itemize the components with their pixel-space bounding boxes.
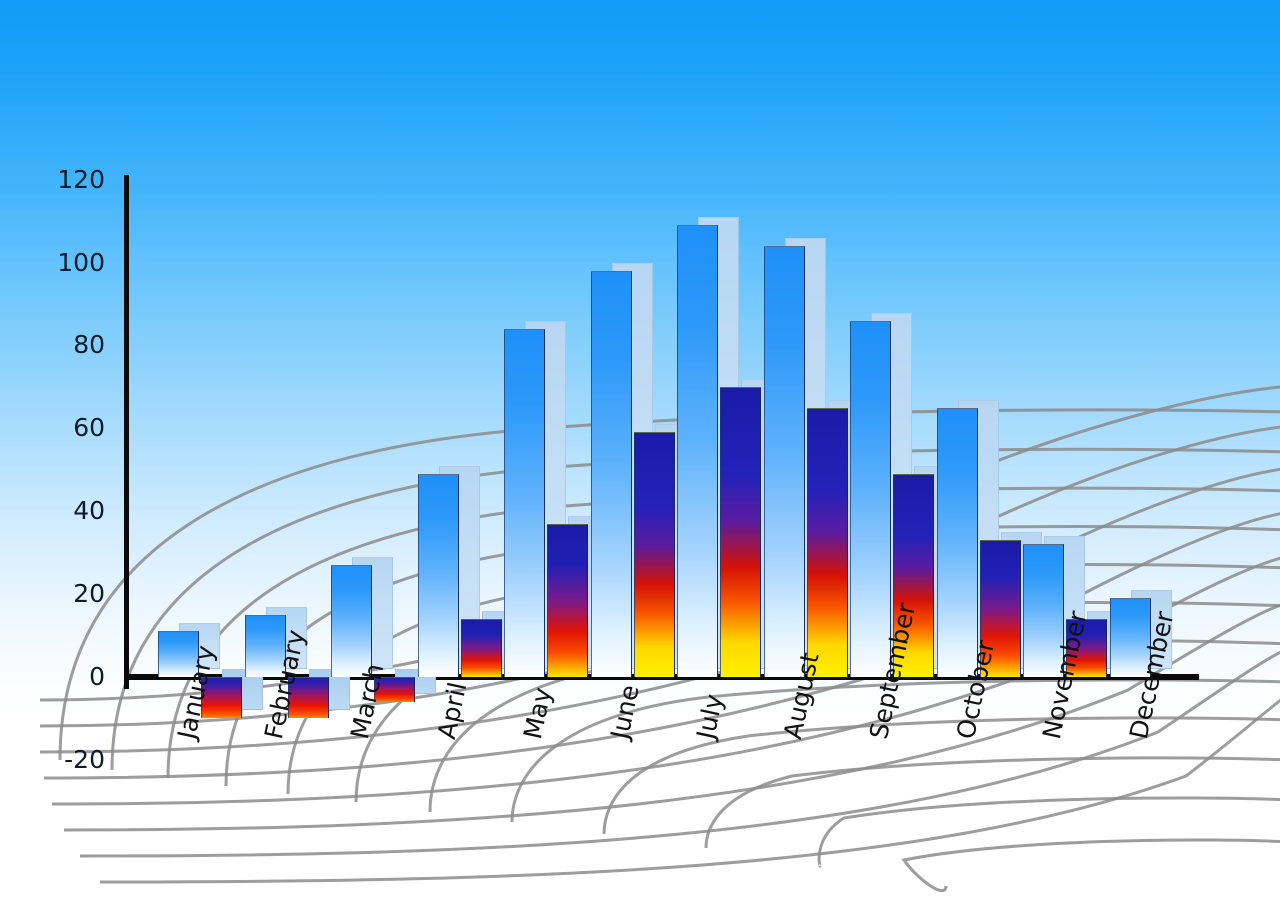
x-axis-label-july: July (693, 692, 727, 741)
bar-warm-june[interactable] (634, 432, 675, 677)
x-axis-label-june: June (607, 683, 643, 741)
x-axis-label-april: April (434, 680, 470, 741)
y-tick-label: 20 (0, 581, 105, 606)
y-axis-line (124, 175, 129, 689)
y-tick-label: 60 (0, 415, 105, 440)
chart-canvas: 120100806040200-20JanuaryFebruaryMarchAp… (0, 0, 1280, 905)
bar-blue-april[interactable] (418, 474, 459, 677)
y-tick-label: 100 (0, 250, 105, 275)
bar-blue-september[interactable] (850, 321, 891, 677)
plot-area: 120100806040200-20JanuaryFebruaryMarchAp… (0, 0, 1280, 905)
x-axis-label-may: May (520, 685, 555, 741)
bar-warm-august[interactable] (807, 408, 848, 677)
bar-warm-july[interactable] (720, 387, 761, 677)
y-tick-label: 80 (0, 332, 105, 357)
bar-blue-july[interactable] (677, 225, 718, 677)
bar-blue-august[interactable] (764, 246, 805, 677)
bar-blue-march[interactable] (331, 565, 372, 677)
y-tick-label: 40 (0, 498, 105, 523)
bar-warm-may[interactable] (547, 524, 588, 677)
y-tick-label: -20 (0, 747, 105, 772)
bar-warm-april[interactable] (461, 619, 502, 677)
y-tick-label: 0 (0, 664, 105, 689)
bar-blue-october[interactable] (937, 408, 978, 677)
y-tick-label: 120 (0, 167, 105, 192)
bar-blue-may[interactable] (504, 329, 545, 677)
bar-blue-june[interactable] (591, 271, 632, 677)
